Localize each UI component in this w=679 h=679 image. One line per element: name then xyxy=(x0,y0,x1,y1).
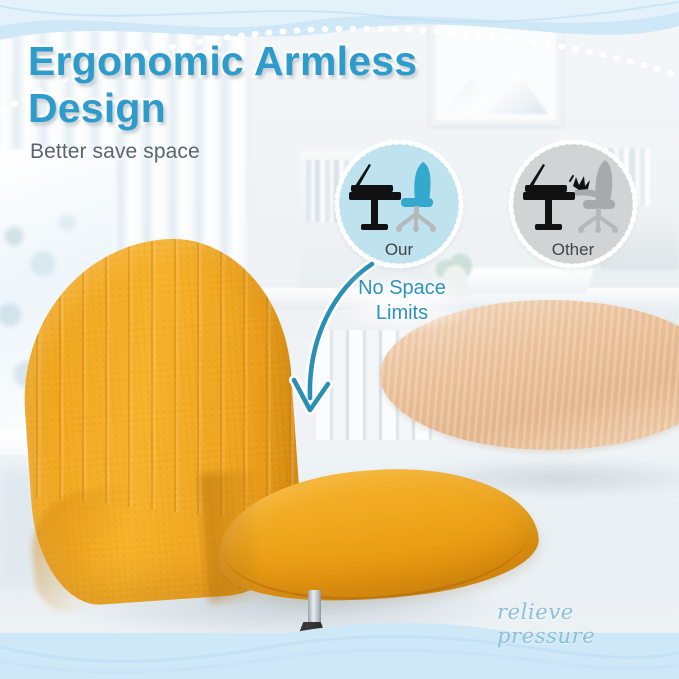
comparison-badge-our: Our xyxy=(337,142,461,266)
desk-with-armchair-collision-icon xyxy=(521,156,625,236)
product-marketing-image: Ergonomic Armless Design Better save spa… xyxy=(0,0,679,679)
page-title: Ergonomic Armless Design xyxy=(28,38,498,132)
callout-line-1: No Space xyxy=(358,277,446,299)
headline-line-1: Ergonomic Armless xyxy=(28,38,417,84)
desk-with-armless-chair-icon xyxy=(347,156,451,236)
collision-burst-icon xyxy=(570,176,590,190)
backrest-seat-joint xyxy=(200,470,263,603)
badge-label-other: Other xyxy=(511,240,635,260)
subtitle: Better save space xyxy=(30,140,200,164)
callout-no-space-limits: No Space Limits xyxy=(336,276,468,326)
comparison-badge-other: Other xyxy=(511,142,635,266)
tagline: relieve pressure xyxy=(497,600,679,648)
headline-line-2: Design xyxy=(28,85,166,131)
badge-label-our: Our xyxy=(337,240,461,260)
callout-line-2: Limits xyxy=(376,302,428,324)
